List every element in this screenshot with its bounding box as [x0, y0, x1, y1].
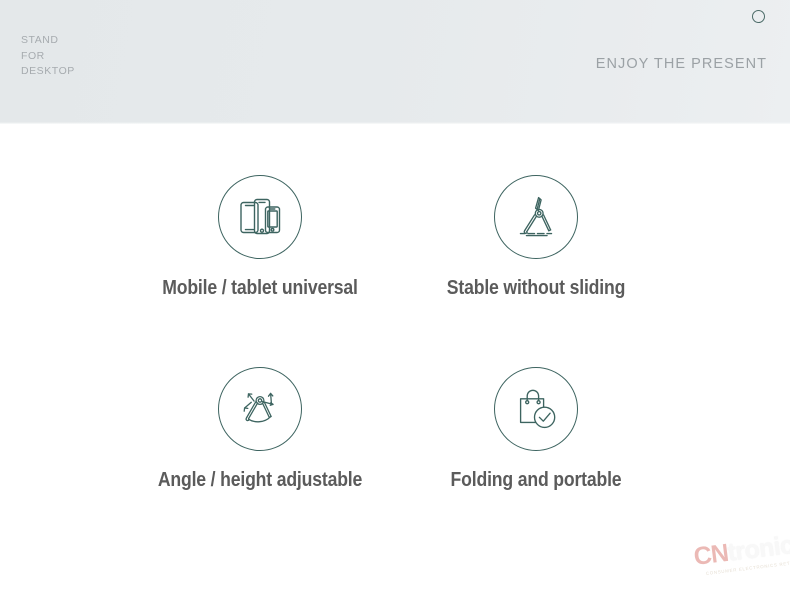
watermark-cntronic: CN tronic CONSUMER ELECTRONICS RETAILER	[694, 543, 788, 595]
watermark-brand-prefix: CN	[692, 541, 729, 570]
brand-tagline-line-1: STAND	[21, 33, 75, 49]
feature-item-mobile-tablet-universal: Mobile / tablet universal	[110, 175, 410, 300]
brand-tagline-line-2: FOR	[21, 49, 75, 65]
circle-outline-icon	[752, 10, 765, 23]
brand-tagline: STAND FOR DESKTOP	[21, 33, 75, 80]
brand-tagline-line-3: DESKTOP	[21, 64, 75, 80]
shopping-bag-check-icon	[494, 367, 578, 451]
feature-item-angle-height-adjustable: Angle / height adjustable	[110, 367, 410, 492]
feature-label: Angle / height adjustable	[131, 468, 389, 492]
compass-stand-on-surface-icon	[494, 175, 578, 259]
feature-label: Folding and portable	[407, 468, 665, 492]
devices-phone-tablet-icon	[218, 175, 302, 259]
header-band: STAND FOR DESKTOP ENJOY THE PRESENT	[0, 0, 790, 124]
feature-label: Stable without sliding	[407, 276, 665, 300]
feature-item-folding-and-portable: Folding and portable	[386, 367, 686, 492]
feature-item-stable-without-sliding: Stable without sliding	[386, 175, 686, 300]
feature-label: Mobile / tablet universal	[131, 276, 389, 300]
header-slogan: ENJOY THE PRESENT	[596, 56, 767, 72]
feature-grid: Mobile / tablet universal	[0, 124, 790, 534]
compass-with-adjust-arrows-icon	[218, 367, 302, 451]
